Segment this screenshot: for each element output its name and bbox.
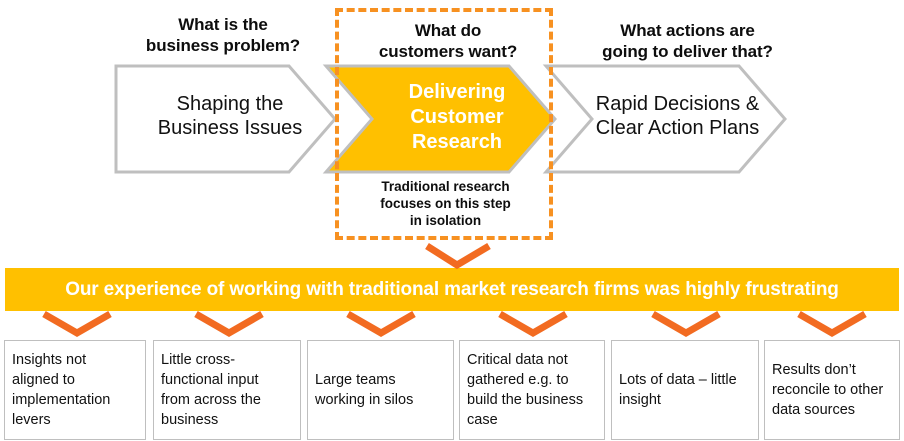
chevron-label-delivering-customer-research: DeliveringCustomerResearch bbox=[372, 80, 542, 155]
arrow-to-reason-3 bbox=[348, 314, 414, 333]
question-label-1: What is thebusiness problem? bbox=[118, 14, 328, 56]
reason-box[interactable]: Results don’treconcile to otherdata sour… bbox=[764, 340, 900, 440]
callout-note-text: Traditional researchfocuses on this step… bbox=[343, 178, 548, 229]
reasons-row: Insights notaligned toimplementationleve… bbox=[0, 340, 904, 441]
reason-box[interactable]: Large teamsworking in silos bbox=[307, 340, 454, 440]
arrow-to-reason-1 bbox=[44, 314, 110, 333]
reason-text: Results don’treconcile to otherdata sour… bbox=[772, 360, 883, 420]
arrow-to-reason-6 bbox=[799, 314, 865, 333]
reason-box[interactable]: Little cross-functional inputfrom across… bbox=[153, 340, 301, 440]
reason-text: Little cross-functional inputfrom across… bbox=[161, 350, 261, 430]
reason-text: Critical data notgathered e.g. tobuild t… bbox=[467, 350, 583, 430]
reason-text: Lots of data – littleinsight bbox=[619, 370, 737, 410]
banner-text: Our experience of working with tradition… bbox=[65, 279, 839, 301]
reason-text: Insights notaligned toimplementationleve… bbox=[12, 350, 110, 430]
arrow-to-reason-5 bbox=[653, 314, 719, 333]
chevron-label-shaping-business-issues: Shaping theBusiness Issues bbox=[130, 92, 330, 140]
question-label-2: What docustomers want? bbox=[348, 20, 548, 62]
question-label-3: What actions aregoing to deliver that? bbox=[580, 20, 795, 62]
arrow-to-reason-2 bbox=[196, 314, 262, 333]
chevron-label-rapid-decisions-clear-action-plans: Rapid Decisions &Clear Action Plans bbox=[570, 92, 785, 140]
arrow-to-reason-4 bbox=[500, 314, 566, 333]
reason-box[interactable]: Critical data notgathered e.g. tobuild t… bbox=[459, 340, 605, 440]
frustration-banner: Our experience of working with tradition… bbox=[5, 268, 899, 311]
reason-text: Large teamsworking in silos bbox=[315, 370, 413, 410]
process-flow-row: What is thebusiness problem? What docust… bbox=[0, 0, 904, 250]
reason-box[interactable]: Insights notaligned toimplementationleve… bbox=[4, 340, 146, 440]
reason-box[interactable]: Lots of data – littleinsight bbox=[611, 340, 759, 440]
